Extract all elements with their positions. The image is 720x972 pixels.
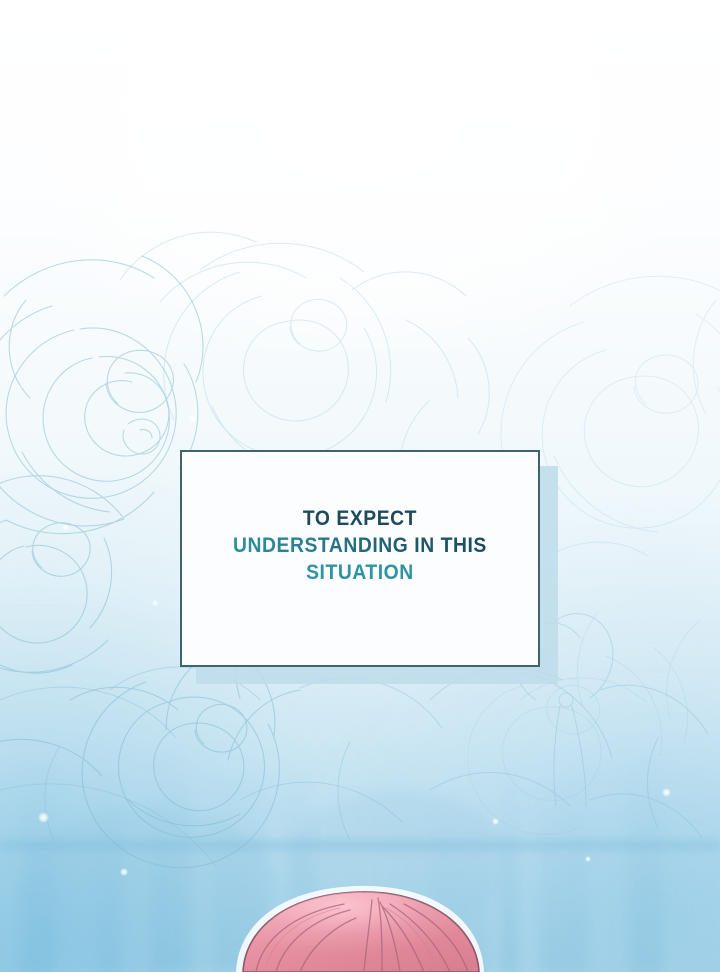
comic-page: TO EXPECT UNDERSTANDING IN THIS SITUATIO… <box>0 0 720 972</box>
background-top-glow <box>36 0 684 350</box>
speech-line-1: TO EXPECT <box>233 505 487 532</box>
speech-line-2: UNDERSTANDING IN THIS <box>233 532 487 559</box>
speech-box[interactable]: TO EXPECT UNDERSTANDING IN THIS SITUATIO… <box>180 450 540 667</box>
speech-box-text: TO EXPECT UNDERSTANDING IN THIS SITUATIO… <box>233 505 487 613</box>
speech-line-3: SITUATION <box>233 559 487 586</box>
